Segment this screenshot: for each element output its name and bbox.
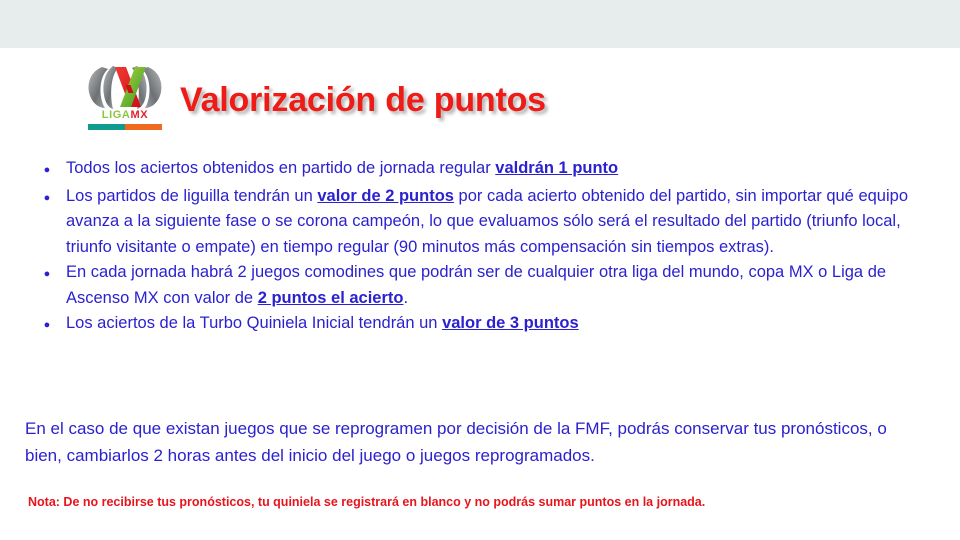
list-item: Todos los aciertos obtenidos en partido …	[28, 156, 918, 184]
plain-text: Los partidos de liguilla tendrán un	[66, 187, 317, 205]
list-item: En cada jornada habrá 2 juegos comodines…	[28, 260, 918, 311]
plain-text: Los aciertos de la Turbo Quiniela Inicia…	[66, 314, 442, 332]
liga-mx-logo: LIGAMX	[86, 64, 164, 136]
bullet-dot-icon	[28, 156, 66, 184]
slide-header: LIGAMX Valorización de puntos	[86, 64, 546, 136]
reschedule-paragraph: En el caso de que existan juegos que se …	[25, 415, 920, 469]
bullet-dot-icon	[28, 184, 66, 212]
page-title: Valorización de puntos	[180, 81, 546, 120]
emphasis-value: 2 puntos el acierto	[258, 289, 404, 307]
list-item: Los partidos de liguilla tendrán un valo…	[28, 184, 918, 261]
list-item-text: En cada jornada habrá 2 juegos comodines…	[66, 260, 918, 311]
liga-mx-emblem-icon	[86, 64, 164, 110]
list-item-text: Los aciertos de la Turbo Quiniela Inicia…	[66, 311, 918, 337]
bullet-list: Todos los aciertos obtenidos en partido …	[28, 156, 918, 339]
plain-text: Todos los aciertos obtenidos en partido …	[66, 159, 495, 177]
logo-word-mx: MX	[130, 109, 148, 121]
emphasis-value: valdrán 1 punto	[495, 159, 618, 177]
emphasis-value: valor de 3 puntos	[442, 314, 579, 332]
emphasis-value: valor de 2 puntos	[317, 187, 454, 205]
bullet-dot-icon	[28, 260, 66, 288]
bullet-dot-icon	[28, 311, 66, 339]
plain-text: En cada jornada habrá 2 juegos comodines…	[66, 263, 886, 307]
list-item: Los aciertos de la Turbo Quiniela Inicia…	[28, 311, 918, 339]
slide-canvas: LIGAMX Valorización de puntos Todos los …	[0, 48, 960, 540]
list-item-text: Los partidos de liguilla tendrán un valo…	[66, 184, 918, 261]
logo-color-bar	[88, 124, 162, 130]
note-text: Nota: De no recibirse tus pronósticos, t…	[28, 494, 928, 510]
logo-bar-orange	[125, 124, 162, 130]
logo-bar-teal	[88, 124, 125, 130]
logo-word-liga: LIGA	[102, 109, 131, 121]
list-item-text: Todos los aciertos obtenidos en partido …	[66, 156, 918, 182]
liga-mx-wordmark: LIGAMX	[86, 109, 164, 121]
plain-text: .	[403, 289, 408, 307]
top-gray-band	[0, 0, 960, 48]
